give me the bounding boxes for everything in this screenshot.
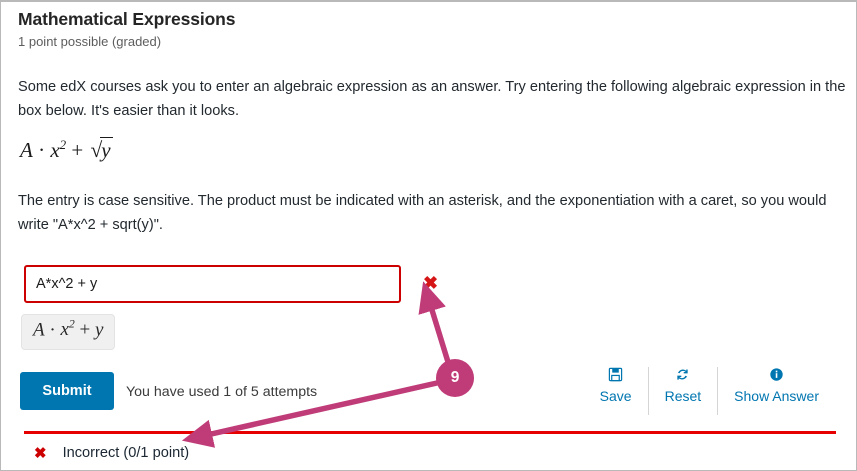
problem-description-paragraph-1: Some edX courses ask you to enter an alg…: [18, 75, 848, 123]
math-var-x: x2: [50, 138, 66, 162]
answer-status-x-icon: ✖: [423, 274, 438, 292]
math-dot-operator: ·: [33, 138, 51, 162]
floppy-disk-icon: [608, 367, 623, 386]
save-button[interactable]: Save: [584, 367, 648, 415]
refresh-icon: [675, 367, 690, 386]
prompt-math-expression: A · x2 + √y: [20, 137, 113, 163]
submit-button[interactable]: Submit: [20, 372, 114, 410]
math-plus-operator: +: [66, 138, 88, 162]
incorrect-x-icon: ✖: [34, 444, 47, 462]
info-circle-icon: [769, 367, 784, 386]
annotation-badge: 9: [436, 359, 474, 397]
problem-description-paragraph-2: The entry is case sensitive. The product…: [18, 189, 848, 237]
show-answer-button[interactable]: Show Answer: [717, 367, 835, 415]
show-answer-label: Show Answer: [734, 388, 819, 404]
preview-var-x: x2: [60, 319, 74, 340]
reset-button[interactable]: Reset: [648, 367, 718, 415]
page-title: Mathematical Expressions: [18, 9, 235, 30]
feedback-message: ✖ Incorrect (0/1 point): [34, 444, 189, 462]
action-buttons: Save Reset: [584, 367, 835, 415]
answer-input[interactable]: [24, 265, 401, 303]
feedback-divider: [24, 431, 836, 434]
attempts-text: You have used 1 of 5 attempts: [126, 384, 317, 400]
preview-plus-operator: +: [75, 319, 95, 340]
save-label: Save: [600, 388, 632, 404]
problem-card: Mathematical Expressions 1 point possibl…: [6, 3, 851, 467]
preview-dot-operator: ·: [45, 319, 61, 340]
math-var-A: A: [20, 138, 33, 162]
preview-var-y: y: [95, 319, 103, 340]
answer-preview: A · x2 + y: [21, 314, 115, 350]
preview-var-A: A: [33, 319, 45, 340]
edx-problem-screenshot: Mathematical Expressions 1 point possibl…: [0, 0, 857, 471]
math-var-y: y: [100, 137, 112, 163]
math-sqrt: √y: [89, 137, 113, 163]
reset-label: Reset: [665, 388, 702, 404]
points-label: 1 point possible (graded): [18, 34, 161, 49]
feedback-text: Incorrect (0/1 point): [63, 445, 190, 461]
